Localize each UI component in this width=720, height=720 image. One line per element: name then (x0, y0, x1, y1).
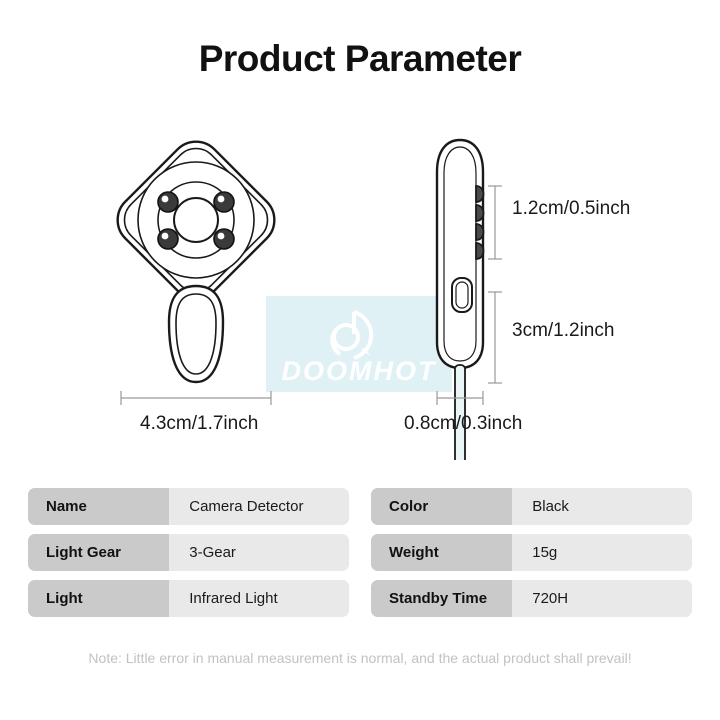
camera-detector-side-view (437, 140, 484, 460)
spec-key: Light Gear (28, 534, 169, 571)
spec-column-left: Name Camera Detector Light Gear 3-Gear L… (28, 488, 349, 617)
table-row: Weight 15g (371, 534, 692, 571)
spec-value: Black (512, 488, 692, 525)
table-row: Standby Time 720H (371, 580, 692, 617)
table-row: Name Camera Detector (28, 488, 349, 525)
spec-value: Infrared Light (169, 580, 349, 617)
page-title: Product Parameter (0, 38, 720, 80)
spec-column-right: Color Black Weight 15g Standby Time 720H (371, 488, 692, 617)
spec-key: Name (28, 488, 169, 525)
spec-value: 720H (512, 580, 692, 617)
spec-key: Light (28, 580, 169, 617)
side-power-button (452, 278, 472, 312)
table-row: Light Infrared Light (28, 580, 349, 617)
spec-key: Standby Time (371, 580, 512, 617)
spec-key: Weight (371, 534, 512, 571)
spec-key: Color (371, 488, 512, 525)
product-line-art (0, 110, 720, 460)
table-row: Color Black (371, 488, 692, 525)
dimension-label-stem-height: 3cm/1.2inch (512, 320, 614, 342)
spec-table: Name Camera Detector Light Gear 3-Gear L… (28, 488, 692, 617)
dimension-front-width (121, 391, 271, 405)
spec-value: 15g (512, 534, 692, 571)
product-illustration: DOOMHOT (0, 110, 720, 460)
dimension-label-side-width: 0.8cm/0.3inch (404, 413, 522, 435)
dimension-stem-height (488, 292, 502, 383)
table-row: Light Gear 3-Gear (28, 534, 349, 571)
dimension-body-height (488, 186, 502, 259)
dimension-label-front-width: 4.3cm/1.7inch (140, 413, 258, 435)
spec-value: Camera Detector (169, 488, 349, 525)
spec-value: 3-Gear (169, 534, 349, 571)
keyring-handle (169, 286, 223, 382)
dimension-label-body-height: 1.2cm/0.5inch (512, 198, 630, 220)
footer-note: Note: Little error in manual measurement… (0, 650, 720, 666)
camera-detector-front-view (107, 131, 285, 382)
